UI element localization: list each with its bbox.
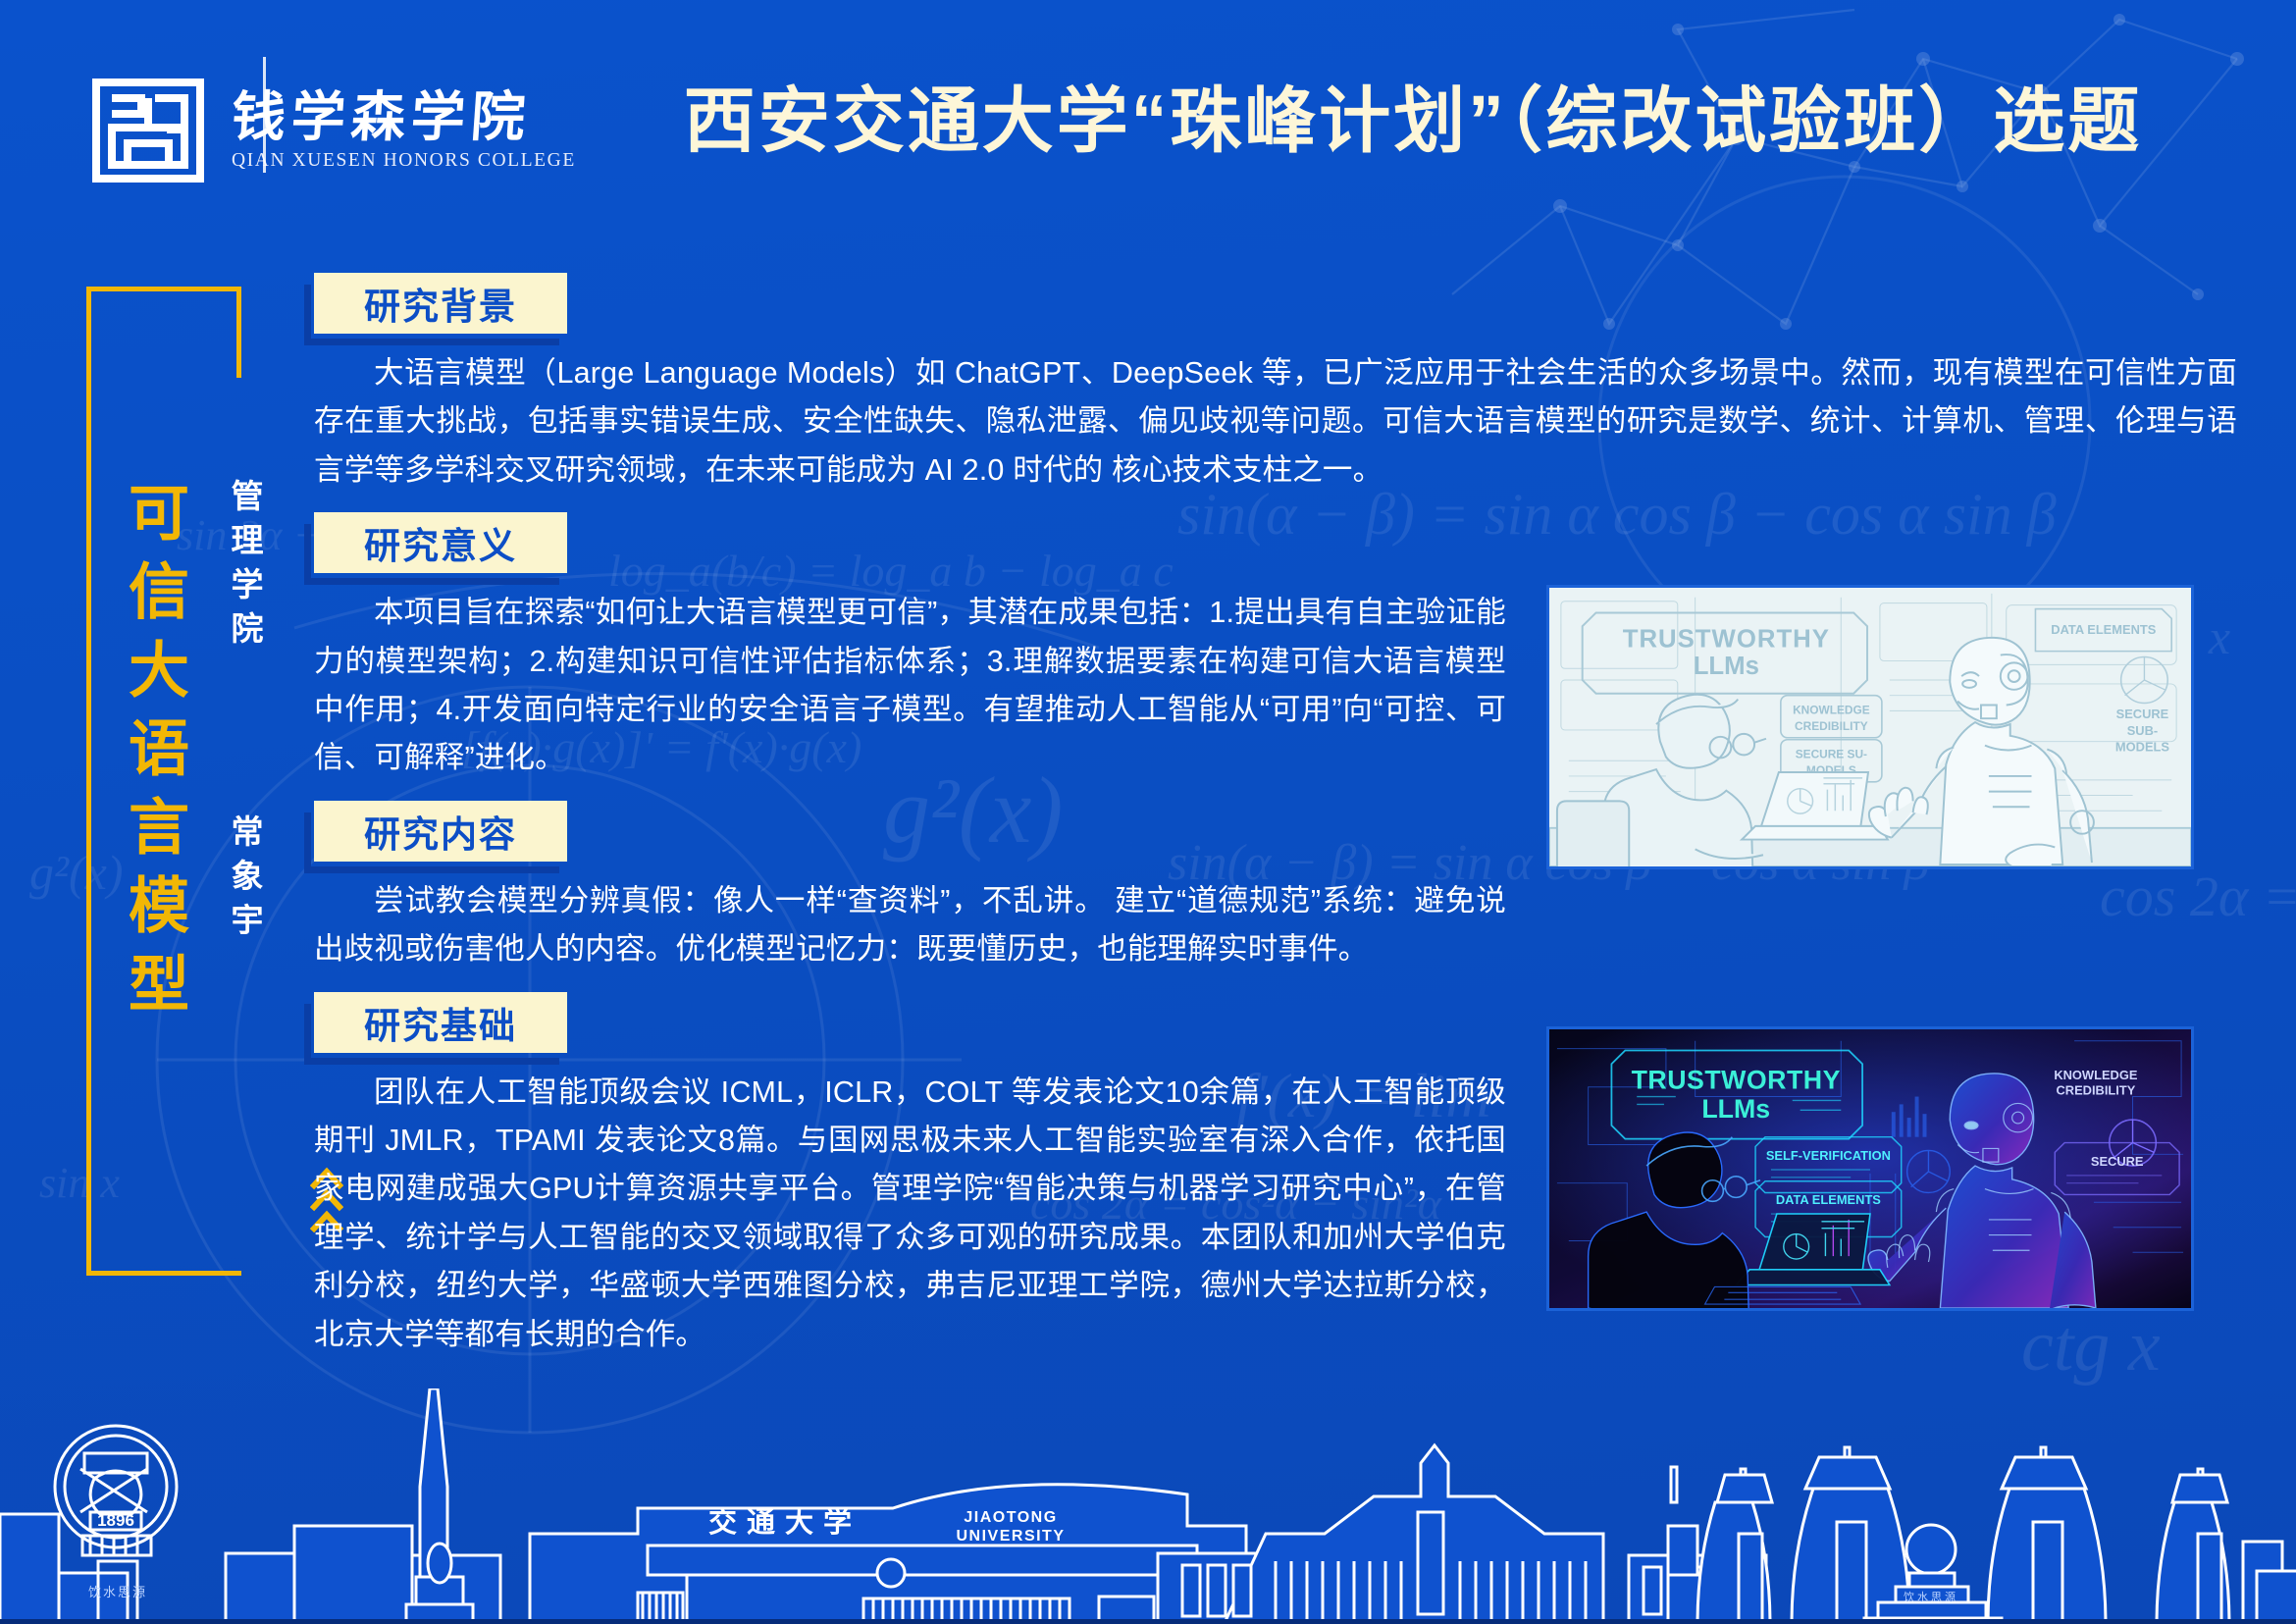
section-research-significance: 研究意义 本项目旨在探索“如何让大语言模型更可信”，其潜在成果包括：1.提出具有…: [314, 512, 1506, 783]
section-body-research-foundation: 团队在人工智能顶级会议 ICML，ICLR，COLT 等发表论文10余篇，在人工…: [314, 1069, 1506, 1359]
svg-text:KNOWLEDGE: KNOWLEDGE: [2054, 1068, 2138, 1082]
qian-xuesen-honors-college-seal-icon: [90, 77, 206, 184]
svg-text:LLMs: LLMs: [1701, 1094, 1770, 1124]
gate-name-cn: 交通大学: [708, 1505, 861, 1539]
tab-box: 研究基础: [314, 992, 567, 1053]
figure-light-sketch-artwork: TRUSTWORTHY LLMs DATA ELEMENTS KNOWLEDGE…: [1549, 588, 2191, 866]
author-block-vertical: 管理学院 常象宇: [227, 479, 259, 947]
logo-divider: [263, 57, 266, 173]
gate-name-en-line1: JIAOTONG: [964, 1509, 1057, 1526]
section-heading-label: 研究意义: [364, 516, 517, 569]
section-heading-label: 研究背景: [364, 277, 517, 330]
poster-root: sin 2α + sin α cos α sin(α − β) = sin α …: [0, 0, 2296, 1624]
section-research-background: 研究背景 大语言模型（Large Language Models）如 ChatG…: [314, 273, 1506, 495]
section-heading-research-background: 研究背景: [314, 273, 567, 334]
monument-inscription: 饮水思源: [88, 1585, 147, 1599]
svg-text:TRUSTWORTHY: TRUSTWORTHY: [1632, 1066, 1841, 1095]
svg-text:DATA ELEMENTS: DATA ELEMENTS: [2051, 622, 2156, 637]
college-name-cn: 钱学森学院: [230, 90, 578, 144]
bottom-rule: [0, 1619, 2296, 1624]
pavilion-inscription: 饮水思源: [1904, 1590, 1958, 1603]
section-research-foundation: 研究基础 团队在人工智能顶级会议 ICML，ICLR，COLT 等发表论文10余…: [314, 992, 1506, 1359]
band-line-left: [86, 287, 91, 1276]
svg-text:SELF-VERIFICATION: SELF-VERIFICATION: [1766, 1148, 1891, 1163]
band-line-right: [236, 287, 241, 378]
section-heading-label: 研究基础: [364, 996, 517, 1049]
figure-light-sketch: TRUSTWORTHY LLMs DATA ELEMENTS KNOWLEDGE…: [1546, 585, 2194, 869]
poster-header: 钱学森学院 QIAN XUESEN HONORS COLLEGE 西安交通大学“…: [0, 0, 2296, 201]
section-research-content: 研究内容 尝试教会模型分辨真假：像人一样“查资料”，不乱讲。 建立“道德规范”系…: [314, 801, 1506, 974]
campus-skyline-illustration: 1896 饮水思源 交通大学 JIAOTONG UNIVERSITY: [0, 1388, 2296, 1624]
svg-text:SECURE SU-: SECURE SU-: [1796, 747, 1867, 760]
gate-name-en-line2: UNIVERSITY: [956, 1528, 1065, 1545]
svg-text:DATA ELEMENTS: DATA ELEMENTS: [1776, 1192, 1881, 1207]
svg-text:CREDIBILITY: CREDIBILITY: [1795, 719, 1868, 733]
tab-box: 研究意义: [314, 512, 567, 573]
section-body-research-significance: 本项目旨在探索“如何让大语言模型更可信”，其潜在成果包括：1.提出具有自主验证能…: [314, 589, 1506, 783]
svg-text:KNOWLEDGE: KNOWLEDGE: [1793, 703, 1870, 716]
affiliation-label: 管理学院: [226, 479, 261, 655]
band-line-top: [86, 287, 241, 291]
formula-text: cos 2α = cos²α − sin²α: [2100, 864, 2296, 929]
section-body-research-content: 尝试教会模型分辨真假：像人一样“查资料”，不乱讲。 建立“道德规范”系统：避免说…: [314, 877, 1506, 974]
author-name: 常象宇: [226, 814, 261, 947]
tab-box: 研究背景: [314, 273, 567, 334]
figure-dark-neon-artwork: TRUSTWORTHY LLMs SELF-VERIFICATION DATA …: [1549, 1029, 2191, 1308]
sidebar-band: 可信大语言模型 管理学院 常象宇: [86, 275, 297, 1281]
formula-text: ctg x: [2021, 1305, 2161, 1388]
svg-text:SUB-: SUB-: [2127, 723, 2158, 738]
section-heading-label: 研究内容: [364, 805, 517, 858]
svg-text:MODELS: MODELS: [2115, 740, 2170, 755]
svg-text:SECURE: SECURE: [2116, 707, 2169, 721]
section-heading-research-content: 研究内容: [314, 801, 567, 862]
figure-dark-neon: TRUSTWORTHY LLMs SELF-VERIFICATION DATA …: [1546, 1026, 2194, 1311]
content-column: 研究背景 大语言模型（Large Language Models）如 ChatG…: [314, 273, 1506, 1367]
xjtu-seal-year: 1896: [97, 1511, 134, 1530]
svg-text:TRUSTWORTHY: TRUSTWORTHY: [1623, 626, 1830, 654]
college-logo: 钱学森学院 QIAN XUESEN HONORS COLLEGE: [90, 77, 576, 184]
tab-box: 研究内容: [314, 801, 567, 862]
project-title-vertical: 可信大语言模型: [122, 481, 183, 1030]
svg-text:CREDIBILITY: CREDIBILITY: [2056, 1083, 2135, 1098]
section-body-research-background: 大语言模型（Large Language Models）如 ChatGPT、De…: [314, 349, 2237, 495]
section-heading-research-significance: 研究意义: [314, 512, 567, 573]
college-name-en: QIAN XUESEN HONORS COLLEGE: [232, 150, 576, 172]
band-line-bottom: [86, 1271, 241, 1276]
svg-text:SECURE: SECURE: [2091, 1154, 2144, 1169]
svg-text:LLMs: LLMs: [1694, 653, 1759, 680]
section-heading-research-foundation: 研究基础: [314, 992, 567, 1053]
page-title: 西安交通大学“珠峰计划”（综改试验班）选题: [589, 84, 2237, 160]
